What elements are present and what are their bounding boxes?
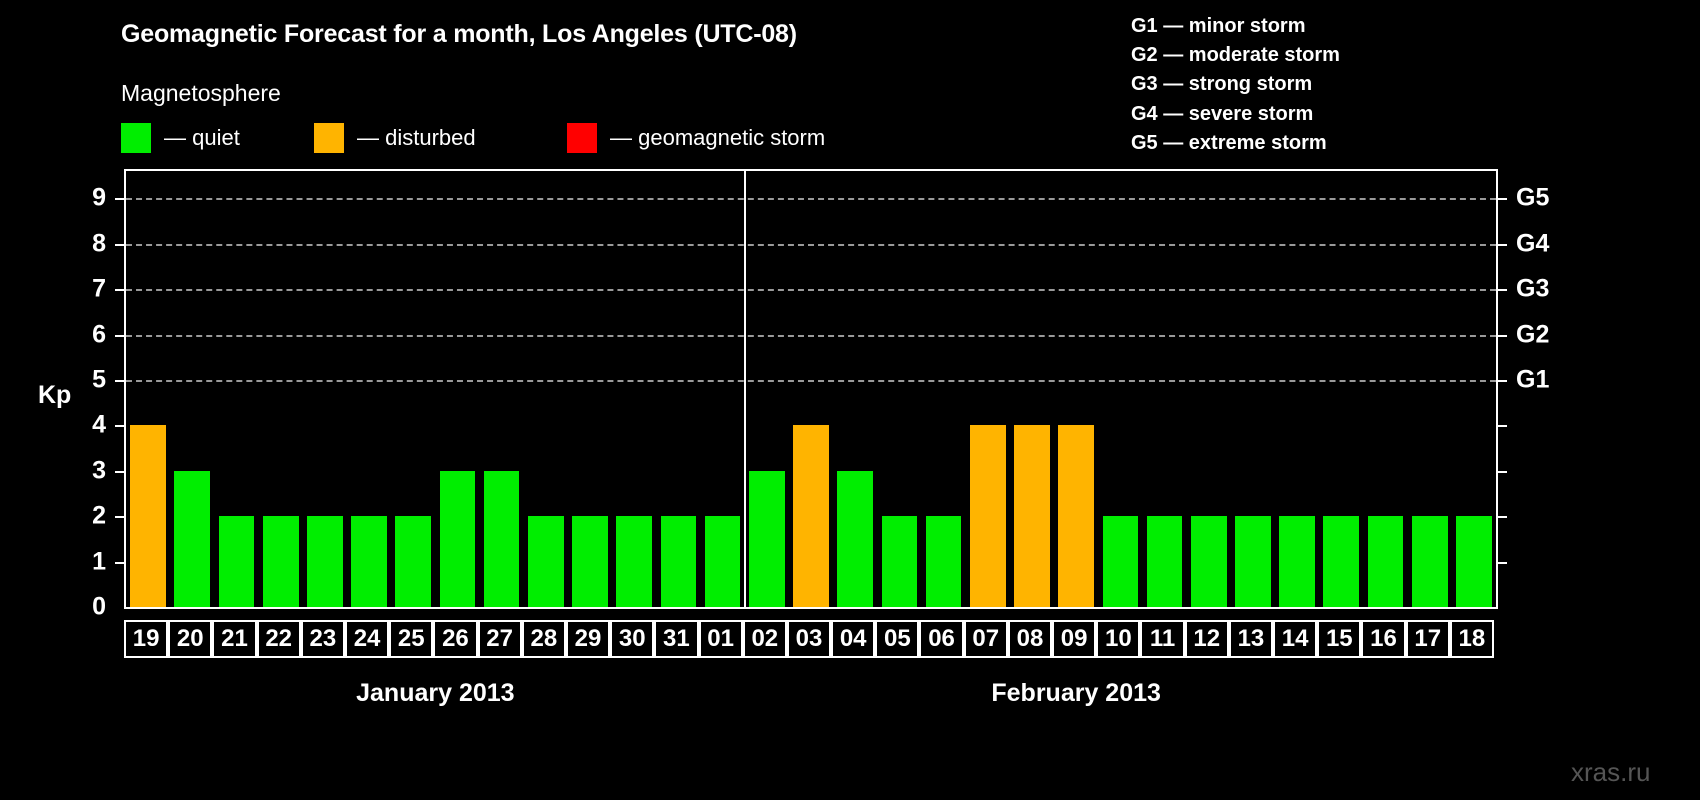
day-label-13[interactable]: 13 bbox=[1229, 620, 1273, 658]
bar-22[interactable] bbox=[263, 516, 299, 607]
axis-tick bbox=[115, 516, 126, 518]
axis-tick bbox=[1496, 516, 1507, 518]
axis-tick bbox=[115, 562, 126, 564]
day-label-05[interactable]: 05 bbox=[875, 620, 919, 658]
day-label-16[interactable]: 16 bbox=[1361, 620, 1405, 658]
day-label-30[interactable]: 30 bbox=[610, 620, 654, 658]
day-label-11[interactable]: 11 bbox=[1140, 620, 1184, 658]
bar-03[interactable] bbox=[793, 425, 829, 607]
g-scale-item-g5: G5 — extreme storm bbox=[1131, 129, 1340, 158]
bar-04[interactable] bbox=[837, 471, 873, 607]
bar-18[interactable] bbox=[1456, 516, 1492, 607]
page-title: Geomagnetic Forecast for a month, Los An… bbox=[121, 20, 797, 49]
day-label-19[interactable]: 19 bbox=[124, 620, 168, 658]
bar-26[interactable] bbox=[440, 471, 476, 607]
bar-17[interactable] bbox=[1412, 516, 1448, 607]
bar-31[interactable] bbox=[661, 516, 697, 607]
axis-tick bbox=[115, 244, 126, 246]
day-axis: 1920212223242526272829303101020304050607… bbox=[124, 620, 1498, 658]
legend-item-geomagnetic-storm: — geomagnetic storm bbox=[567, 123, 825, 153]
bar-01[interactable] bbox=[705, 516, 741, 607]
legend-item-quiet: — quiet bbox=[121, 123, 240, 153]
day-label-21[interactable]: 21 bbox=[212, 620, 256, 658]
chart-plot-area bbox=[124, 169, 1498, 609]
day-label-31[interactable]: 31 bbox=[654, 620, 698, 658]
g-scale-item-g4: G4 — severe storm bbox=[1131, 100, 1340, 129]
bar-20[interactable] bbox=[174, 471, 210, 607]
g-axis-label-g4: G4 bbox=[1516, 229, 1549, 258]
day-label-01[interactable]: 01 bbox=[699, 620, 743, 658]
axis-tick bbox=[115, 380, 126, 382]
g-scale-item-g1: G1 — minor storm bbox=[1131, 12, 1340, 41]
legend-label-disturbed: — disturbed bbox=[357, 125, 476, 151]
bar-08[interactable] bbox=[1014, 425, 1050, 607]
legend-label-quiet: — quiet bbox=[164, 125, 240, 151]
g-axis-label-g3: G3 bbox=[1516, 275, 1549, 304]
bar-28[interactable] bbox=[528, 516, 564, 607]
y-tick-label: 6 bbox=[92, 320, 106, 349]
magnetosphere-label: Magnetosphere bbox=[121, 80, 281, 107]
day-label-28[interactable]: 28 bbox=[522, 620, 566, 658]
bar-10[interactable] bbox=[1103, 516, 1139, 607]
g-axis-label-g1: G1 bbox=[1516, 365, 1549, 394]
axis-tick bbox=[115, 335, 126, 337]
day-label-20[interactable]: 20 bbox=[168, 620, 212, 658]
y-tick-label: 1 bbox=[92, 547, 106, 576]
bar-23[interactable] bbox=[307, 516, 343, 607]
bar-19[interactable] bbox=[130, 425, 166, 607]
legend-swatch-disturbed bbox=[314, 123, 344, 153]
day-label-18[interactable]: 18 bbox=[1450, 620, 1494, 658]
g-scale-legend: G1 — minor storm G2 — moderate storm G3 … bbox=[1131, 12, 1340, 158]
day-label-08[interactable]: 08 bbox=[1008, 620, 1052, 658]
y-tick-label: 3 bbox=[92, 456, 106, 485]
day-label-02[interactable]: 02 bbox=[743, 620, 787, 658]
bar-13[interactable] bbox=[1235, 516, 1271, 607]
bar-14[interactable] bbox=[1279, 516, 1315, 607]
axis-tick bbox=[1496, 198, 1507, 200]
bar-21[interactable] bbox=[219, 516, 255, 607]
g-axis-label-g2: G2 bbox=[1516, 320, 1549, 349]
y-tick-label: 7 bbox=[92, 275, 106, 304]
watermark: xras.ru bbox=[1571, 757, 1650, 788]
bar-02[interactable] bbox=[749, 471, 785, 607]
bar-07[interactable] bbox=[970, 425, 1006, 607]
axis-tick bbox=[1496, 289, 1507, 291]
g-axis-label-g5: G5 bbox=[1516, 184, 1549, 213]
day-label-12[interactable]: 12 bbox=[1185, 620, 1229, 658]
day-label-07[interactable]: 07 bbox=[964, 620, 1008, 658]
day-label-15[interactable]: 15 bbox=[1317, 620, 1361, 658]
legend-swatch-geomagnetic-storm bbox=[567, 123, 597, 153]
bar-11[interactable] bbox=[1147, 516, 1183, 607]
bar-29[interactable] bbox=[572, 516, 608, 607]
y-tick-label: 4 bbox=[92, 411, 106, 440]
legend-label-geomagnetic-storm: — geomagnetic storm bbox=[610, 125, 825, 151]
bar-25[interactable] bbox=[395, 516, 431, 607]
axis-tick bbox=[115, 289, 126, 291]
axis-tick bbox=[1496, 471, 1507, 473]
day-label-24[interactable]: 24 bbox=[345, 620, 389, 658]
y-axis-title: Kp bbox=[38, 381, 71, 410]
y-tick-label: 2 bbox=[92, 502, 106, 531]
y-tick-label: 5 bbox=[92, 365, 106, 394]
month-label: January 2013 bbox=[356, 679, 514, 708]
day-label-22[interactable]: 22 bbox=[257, 620, 301, 658]
day-label-09[interactable]: 09 bbox=[1052, 620, 1096, 658]
y-tick-label: 9 bbox=[92, 184, 106, 213]
axis-tick bbox=[1496, 562, 1507, 564]
day-label-29[interactable]: 29 bbox=[566, 620, 610, 658]
bar-15[interactable] bbox=[1323, 516, 1359, 607]
day-label-26[interactable]: 26 bbox=[433, 620, 477, 658]
axis-tick bbox=[1496, 380, 1507, 382]
day-label-14[interactable]: 14 bbox=[1273, 620, 1317, 658]
bar-series bbox=[126, 171, 1496, 607]
y-tick-label: 0 bbox=[92, 593, 106, 622]
g-scale-item-g3: G3 — strong storm bbox=[1131, 70, 1340, 99]
axis-tick bbox=[115, 425, 126, 427]
day-label-25[interactable]: 25 bbox=[389, 620, 433, 658]
day-label-27[interactable]: 27 bbox=[478, 620, 522, 658]
axis-tick bbox=[1496, 335, 1507, 337]
bar-30[interactable] bbox=[616, 516, 652, 607]
g-scale-item-g2: G2 — moderate storm bbox=[1131, 41, 1340, 70]
bar-09[interactable] bbox=[1058, 425, 1094, 607]
axis-tick bbox=[1496, 244, 1507, 246]
bar-16[interactable] bbox=[1368, 516, 1404, 607]
axis-tick bbox=[115, 198, 126, 200]
day-label-17[interactable]: 17 bbox=[1406, 620, 1450, 658]
month-label: February 2013 bbox=[991, 679, 1161, 708]
bar-12[interactable] bbox=[1191, 516, 1227, 607]
bar-24[interactable] bbox=[351, 516, 387, 607]
bar-27[interactable] bbox=[484, 471, 520, 607]
day-label-23[interactable]: 23 bbox=[301, 620, 345, 658]
bar-06[interactable] bbox=[926, 516, 962, 607]
bar-05[interactable] bbox=[882, 516, 918, 607]
axis-tick bbox=[1496, 425, 1507, 427]
legend-item-disturbed: — disturbed bbox=[314, 123, 476, 153]
y-tick-label: 8 bbox=[92, 229, 106, 258]
day-label-04[interactable]: 04 bbox=[831, 620, 875, 658]
day-label-03[interactable]: 03 bbox=[787, 620, 831, 658]
day-label-06[interactable]: 06 bbox=[919, 620, 963, 658]
axis-tick bbox=[115, 471, 126, 473]
day-label-10[interactable]: 10 bbox=[1096, 620, 1140, 658]
legend-swatch-quiet bbox=[121, 123, 151, 153]
